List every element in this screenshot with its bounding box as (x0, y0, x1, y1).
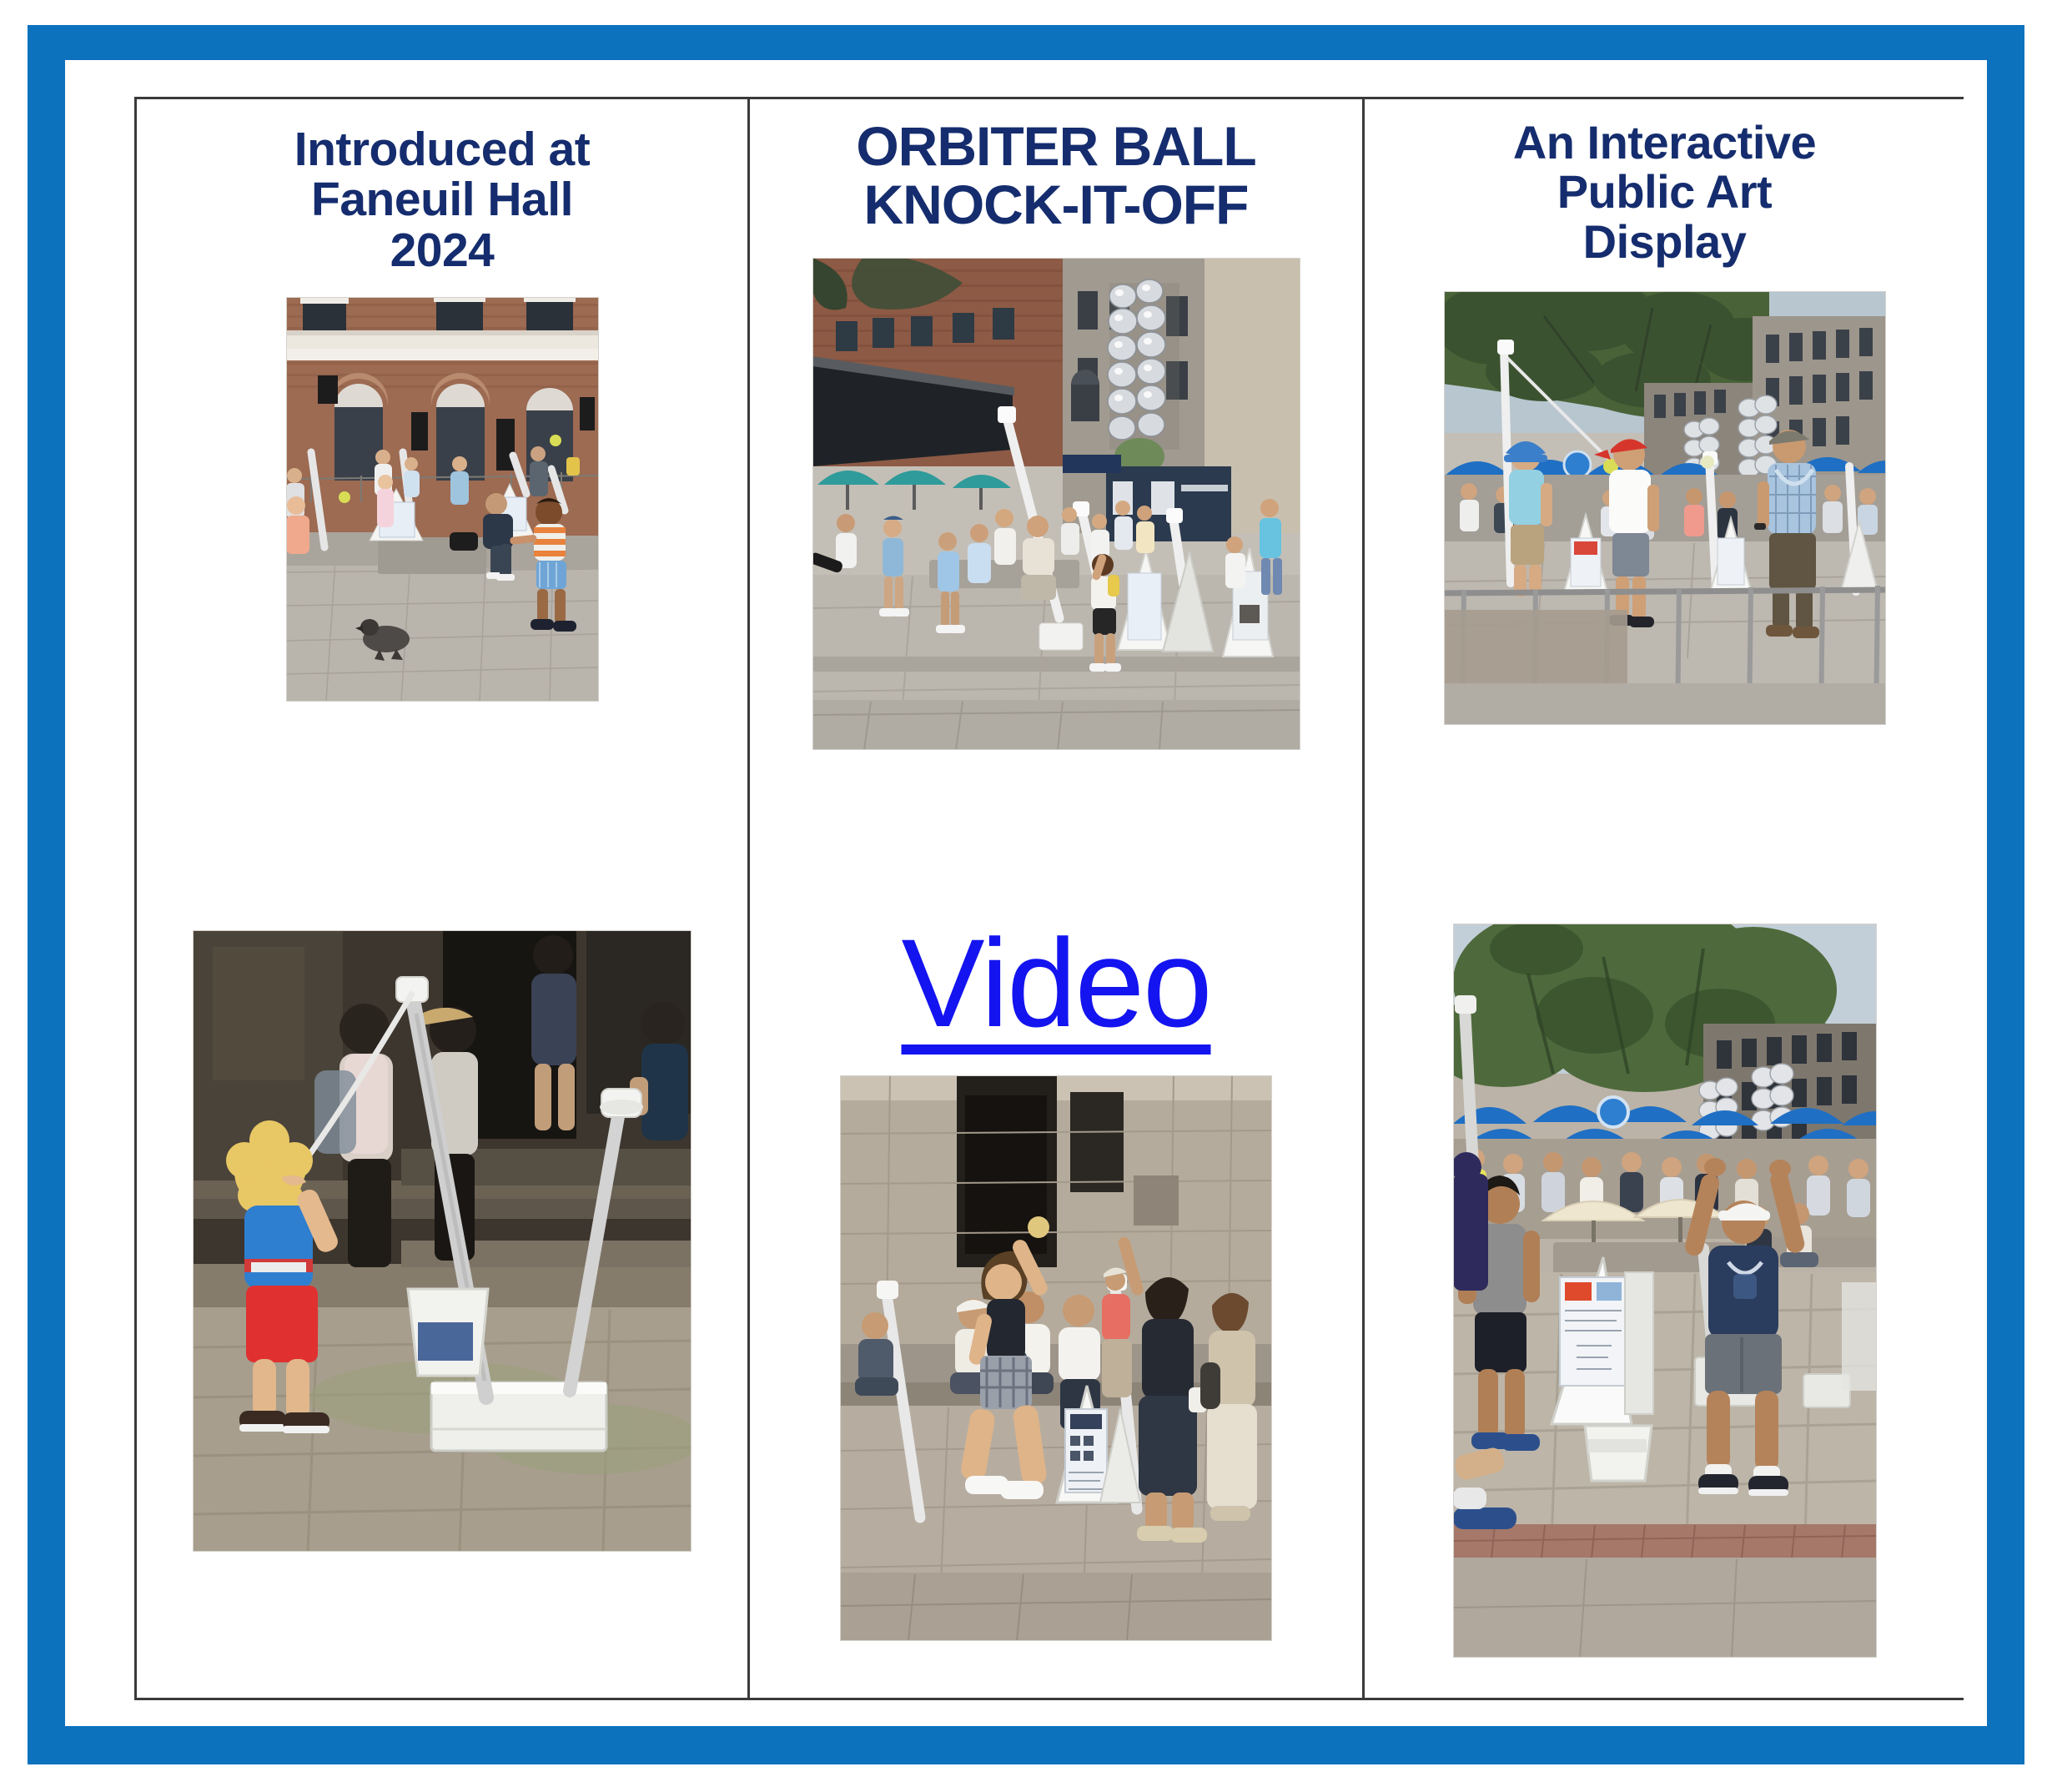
cell-boy-arms-up[interactable] (1365, 904, 1964, 1698)
cell-toddler-play[interactable] (137, 904, 750, 1698)
cell-orbiter-title[interactable]: ORBITER BALL KNOCK-IT-OFF (750, 99, 1365, 914)
video-link[interactable]: Video (902, 920, 1211, 1045)
photo-toddler-reaching-ball (193, 930, 692, 1552)
photo-spectators-railing (1444, 291, 1886, 725)
cell-video[interactable]: Video (750, 904, 1365, 1698)
cell-intro-faneuil[interactable]: Introduced at Faneuil Hall 2024 (137, 99, 750, 914)
cell-title-interactive: An Interactive Public Art Display (1513, 118, 1816, 266)
cell-title-intro: Introduced at Faneuil Hall 2024 (294, 124, 591, 275)
poster-grid-row2: Video (134, 904, 1964, 1700)
cell-interactive-art[interactable]: An Interactive Public Art Display (1365, 99, 1964, 914)
poster-inner-white: Introduced at Faneuil Hall 2024 (65, 60, 1987, 1726)
photo-quincy-market-plaza (812, 258, 1300, 750)
cell-title-orbiter: ORBITER BALL KNOCK-IT-OFF (856, 118, 1255, 234)
photo-faneuil-hall (286, 297, 599, 702)
photo-boy-arms-raised (1453, 924, 1877, 1658)
photo-woman-hitting-ball (840, 1075, 1272, 1641)
blue-poster-frame: Introduced at Faneuil Hall 2024 (28, 25, 2024, 1764)
